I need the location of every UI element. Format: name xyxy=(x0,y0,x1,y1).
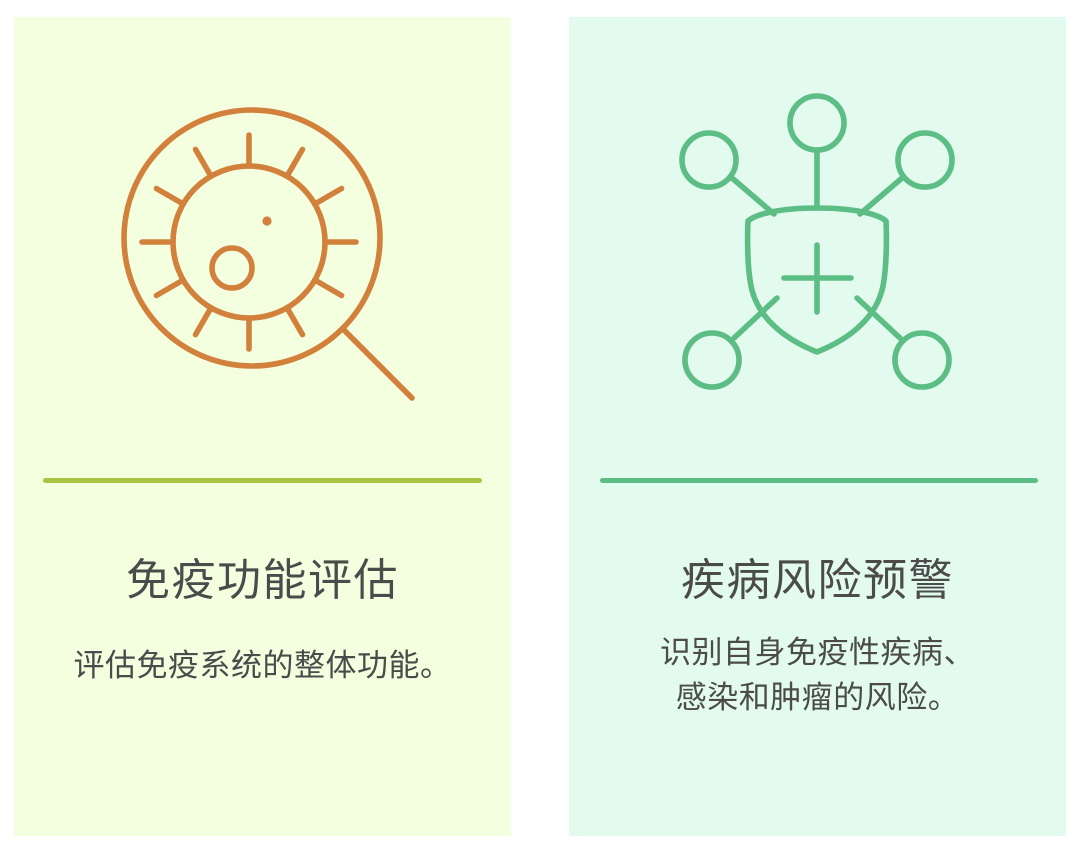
icon-zone-right xyxy=(569,17,1066,472)
card-divider-left xyxy=(43,478,482,483)
feature-card-disease-risk-alert[interactable]: 疾病风险预警 识别自身免疫性疾病、 感染和肿瘤的风险。 xyxy=(569,17,1066,836)
card-divider-right xyxy=(600,478,1038,483)
text-zone-right: 疾病风险预警 识别自身免疫性疾病、 感染和肿瘤的风险。 xyxy=(569,517,1066,721)
card-title-right: 疾病风险预警 xyxy=(681,553,954,608)
text-zone-left: 免疫功能评估 评估免疫系统的整体功能。 xyxy=(14,517,511,688)
feature-cards-board: 免疫功能评估 评估免疫系统的整体功能。 xyxy=(0,0,1080,848)
card-description-left: 评估免疫系统的整体功能。 xyxy=(74,643,452,688)
icon-zone-left xyxy=(14,17,511,472)
bacteria-magnifier-icon xyxy=(119,105,419,405)
card-title-left: 免疫功能评估 xyxy=(126,553,399,608)
feature-card-immune-function-assessment[interactable]: 免疫功能评估 评估免疫系统的整体功能。 xyxy=(14,17,511,836)
shield-network-plus-icon xyxy=(664,90,969,410)
card-description-right: 识别自身免疫性疾病、 感染和肿瘤的风险。 xyxy=(660,630,975,721)
